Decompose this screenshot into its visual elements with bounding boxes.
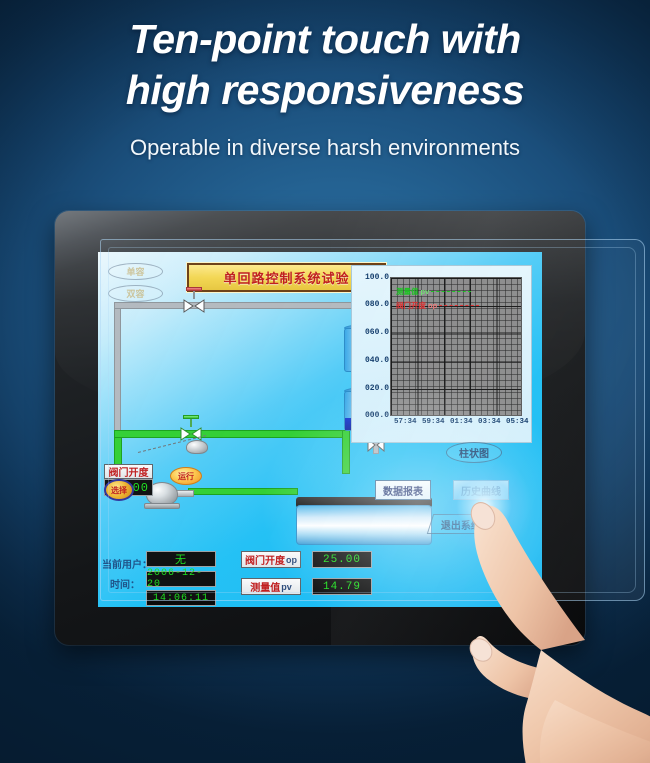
headline-subtitle: Operable in diverse harsh environments [0,135,650,161]
secondary-pump-icon [186,440,208,454]
valve-opening-label-text: 阀门开度 [109,464,149,479]
clock-value: 14:06:11 [146,590,216,606]
valve-gray-top-cap [186,287,202,291]
chart-ytick-80: 080.0 [354,300,389,309]
readout-pv-label: 测量值pv [241,578,301,595]
bar-chart-button-label: 柱状图 [459,445,489,460]
trend-chart-plot: 测量值pv 阀门开度op [390,277,522,416]
valve-green-left-cap [183,415,199,419]
chart-ytick-40: 040.0 [354,356,389,365]
pipe-gray-left-vertical [114,302,121,437]
valve-opening-label: 阀门开度 [104,464,153,479]
chart-xtick-4: 05:34 [506,418,529,426]
chart-ytick-60: 060.0 [354,328,389,337]
select-badge[interactable]: 选择 [104,479,134,501]
hand-illustration [455,490,650,763]
chart-legend-op-swatch [439,305,479,306]
horizontal-vessel [296,505,432,545]
pipe-gray-top-horizontal [114,302,358,309]
chart-ytick-100: 100.0 [354,273,389,282]
chart-legend-pv-label: 测量值 [396,286,419,297]
bar-chart-button[interactable]: 柱状图 [446,442,502,463]
current-user-value: 无 [146,551,216,567]
chart-legend-op: 阀门开度op [396,300,479,311]
chart-xtick-2: 01:34 [450,418,473,426]
headline-block: Ten-point touch with high responsiveness… [0,14,650,161]
pump-status-badge: 运行 [170,467,202,485]
readout-pv-label-text: 测量值 [250,579,280,594]
headline-line-1: Ten-point touch with [0,14,650,65]
pipe-green-right-vertical [342,430,350,474]
chart-major-grid [391,278,521,415]
chart-legend-pv-suffix: pv [421,287,430,296]
readout-op-label: 阀门开度op [241,551,301,568]
pipe-green-horizontal [114,430,350,438]
chart-legend-pv: 测量值pv [396,286,471,297]
chart-ytick-20: 020.0 [354,384,389,393]
valve-green-left-stem [190,418,192,427]
date-value: 2006-12-20 [146,571,216,587]
chart-ytick-0: 000.0 [354,411,389,420]
data-report-button[interactable]: 数据报表 [375,480,431,500]
current-user-label: 当前用户： [102,556,152,571]
mode-selector-single[interactable]: 单容 [108,263,163,280]
readout-op-label-text: 阀门开度 [245,552,285,567]
readout-pv-suffix: pv [281,582,292,592]
chart-xtick-3: 03:34 [478,418,501,426]
chart-xtick-1: 59:34 [422,418,445,426]
chart-legend-op-label: 阀门开度 [396,300,426,311]
trend-chart-panel: 测量值pv 阀门开度op 100.0 080.0 060.0 040.0 020… [351,265,532,443]
pipe-green-pump-outlet [188,488,298,495]
valve-gray-top-stem [193,290,195,299]
chart-xtick-0: 57:34 [394,418,417,426]
readout-pv-value: 14.79 [312,578,372,595]
chart-legend-op-suffix: op [428,301,437,310]
chart-legend-pv-swatch [431,291,471,292]
readout-op-value: 25.00 [312,551,372,568]
mode-selector-double[interactable]: 双容 [108,285,163,302]
main-pump-base [144,503,180,509]
time-label: 时间： [110,576,140,591]
readout-op-suffix: op [286,555,297,565]
headline-line-2: high responsiveness [0,65,650,116]
data-report-button-label: 数据报表 [383,483,423,498]
